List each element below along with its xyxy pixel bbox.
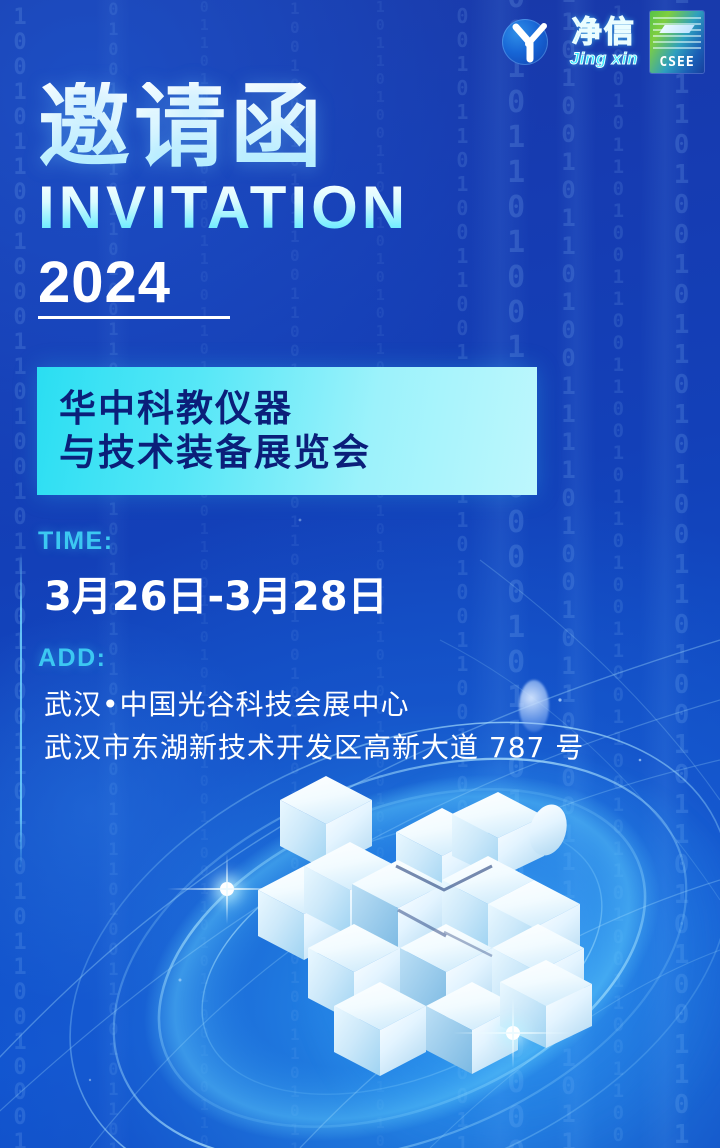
csee-stripes xyxy=(650,15,704,51)
exhibition-name-line-1: 华中科教仪器 xyxy=(59,387,515,431)
address-line-2: 武汉市东湖新技术开发区高新大道 787 号 xyxy=(44,726,584,769)
left-accent-rule xyxy=(20,552,22,872)
headline-block: 邀请函 INVITATION 2024 xyxy=(38,82,409,319)
exhibition-name-box: 华中科教仪器 与技术装备展览会 xyxy=(37,367,537,495)
page-title-cn: 邀请函 xyxy=(38,82,409,172)
address-label: ADD: xyxy=(38,644,584,673)
cube-group xyxy=(258,776,592,1076)
year-underline xyxy=(38,316,230,319)
csee-abbr: CSEE xyxy=(650,55,704,70)
page-title-en: INVITATION xyxy=(38,178,409,238)
csee-gradient-logo-icon: CSEE xyxy=(650,11,704,73)
header-logos: 净信 Jing xin CSEE xyxy=(0,6,720,78)
brand-name-en: Jing xin xyxy=(570,50,638,67)
year-block: 2024 xyxy=(38,254,230,319)
jingxin-circle-arrow-logo-icon xyxy=(500,13,558,71)
invitation-poster: 0100101100100011010010110010001101001011… xyxy=(0,0,720,1148)
brand-name-cn: 净信 xyxy=(572,18,636,48)
jingxin-brand-wordmark: 净信 Jing xin xyxy=(570,18,638,67)
time-label: TIME: xyxy=(38,527,584,556)
csee-slash xyxy=(659,25,694,33)
year-text: 2024 xyxy=(38,254,230,312)
cube-illustration xyxy=(200,770,630,1110)
address-line-1: 武汉•中国光谷科技会展中心 xyxy=(44,683,584,726)
event-details: TIME: 3月26日-3月28日 ADD: 武汉•中国光谷科技会展中心 武汉市… xyxy=(38,527,584,770)
exhibition-name-line-2: 与技术装备展览会 xyxy=(59,431,515,475)
time-value: 3月26日-3月28日 xyxy=(44,564,584,622)
